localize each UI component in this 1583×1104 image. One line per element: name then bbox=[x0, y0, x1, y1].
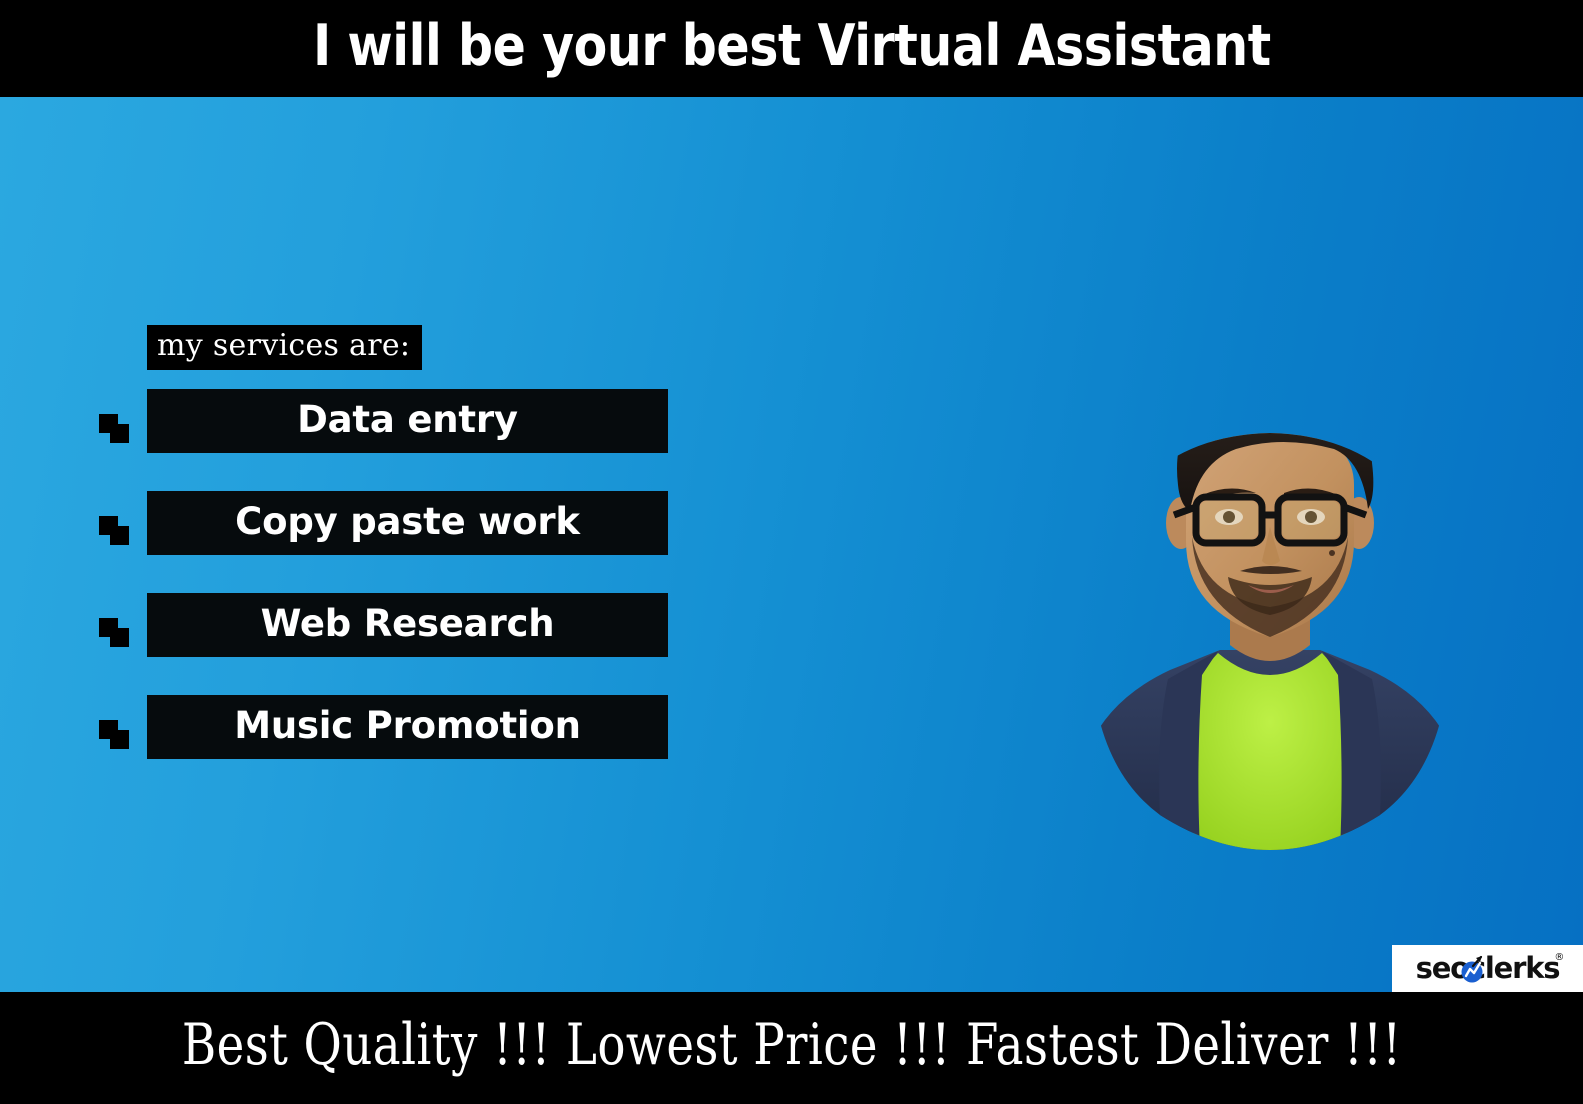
registered-trademark-mark: ® bbox=[1554, 952, 1564, 963]
footer-tagline: Best Quality !!! Lowest Price !!! Fastes… bbox=[182, 1017, 1402, 1080]
virtual-assistant-service-poster: I will be your best Virtual Assistant my… bbox=[0, 0, 1583, 1104]
seoclerks-logo-text: seoclerks bbox=[1416, 954, 1560, 983]
portrait-photo bbox=[1050, 345, 1490, 850]
list-item: Web Research bbox=[95, 593, 695, 695]
services-heading: my services are: bbox=[147, 325, 422, 370]
service-label: Web Research bbox=[261, 605, 555, 645]
service-bar-music-promotion: Music Promotion bbox=[147, 695, 668, 759]
service-bar-web-research: Web Research bbox=[147, 593, 668, 657]
list-item: Music Promotion bbox=[95, 695, 695, 797]
double-square-bullet-icon bbox=[99, 618, 129, 648]
list-item: Copy paste work bbox=[95, 491, 695, 593]
page-title: I will be your best Virtual Assistant bbox=[313, 18, 1271, 79]
header-bar: I will be your best Virtual Assistant bbox=[0, 0, 1583, 97]
footer-bar: Best Quality !!! Lowest Price !!! Fastes… bbox=[0, 992, 1583, 1104]
list-item: Data entry bbox=[95, 389, 695, 491]
service-bar-data-entry: Data entry bbox=[147, 389, 668, 453]
seoclerks-globe-arrow-icon bbox=[1460, 954, 1487, 983]
service-bar-copy-paste-work: Copy paste work bbox=[147, 491, 668, 555]
service-label: Copy paste work bbox=[235, 503, 580, 543]
service-label: Music Promotion bbox=[234, 707, 581, 747]
main-stage: my services are: Data entry Copy pas bbox=[0, 97, 1583, 992]
service-label: Data entry bbox=[297, 401, 518, 441]
services-list: Data entry Copy paste work bbox=[95, 389, 695, 797]
double-square-bullet-icon bbox=[99, 516, 129, 546]
seoclerks-logo: seoclerks ® bbox=[1392, 945, 1583, 992]
double-square-bullet-icon bbox=[99, 414, 129, 444]
services-block: my services are: Data entry Copy pas bbox=[95, 325, 695, 797]
double-square-bullet-icon bbox=[99, 720, 129, 750]
